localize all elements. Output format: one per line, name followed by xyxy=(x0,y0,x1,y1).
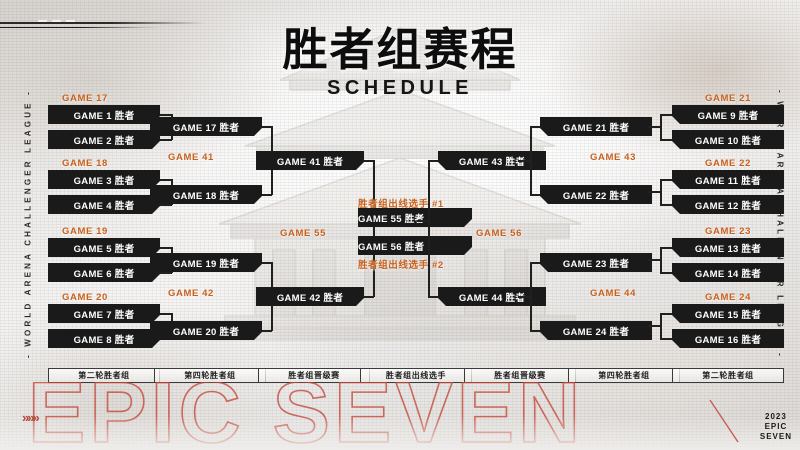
match-label-game41: GAME 41 xyxy=(168,152,214,163)
match-label-game24: GAME 24 xyxy=(705,292,751,303)
slot-game43-bottom[interactable]: GAME 22 胜者 xyxy=(540,185,652,204)
slot-game20-bottom[interactable]: GAME 8 胜者 xyxy=(48,329,160,348)
slot-game42-bottom[interactable]: GAME 20 胜者 xyxy=(150,321,262,340)
match-label-game23: GAME 23 xyxy=(705,226,751,237)
slot-game44-top[interactable]: GAME 23 胜者 xyxy=(540,253,652,272)
slot-game41-top[interactable]: GAME 17 胜者 xyxy=(150,117,262,136)
slot-game20-top[interactable]: GAME 7 胜者 xyxy=(48,304,160,323)
round-chip-1: 第四轮胜者组 xyxy=(154,368,266,383)
slot-game19-bottom[interactable]: GAME 6 胜者 xyxy=(48,263,160,282)
match-label-game17: GAME 17 xyxy=(62,93,108,104)
slot-game17-bottom[interactable]: GAME 2 胜者 xyxy=(48,130,160,149)
slot-game41-bottom[interactable]: GAME 18 胜者 xyxy=(150,185,262,204)
slot-game42-top[interactable]: GAME 19 胜者 xyxy=(150,253,262,272)
qualifier-1-label: 胜者组出线选手 #1 xyxy=(358,196,444,210)
match-label-game18: GAME 18 xyxy=(62,158,108,169)
match-label-game19: GAME 19 xyxy=(62,226,108,237)
corner-slash-decoration xyxy=(708,398,744,444)
slot-game18-top[interactable]: GAME 3 胜者 xyxy=(48,170,160,189)
round-chip-6: 第二轮胜者组 xyxy=(672,368,784,383)
slot-game22-top[interactable]: GAME 11 胜者 xyxy=(672,170,784,189)
match-label-game22: GAME 22 xyxy=(705,158,751,169)
match-label-game20: GAME 20 xyxy=(62,292,108,303)
slot-game19-top[interactable]: GAME 5 胜者 xyxy=(48,238,160,257)
slot-game23-bottom[interactable]: GAME 14 胜者 xyxy=(672,263,784,282)
watermark-fade xyxy=(0,416,800,450)
slot-game21-top[interactable]: GAME 9 胜者 xyxy=(672,105,784,124)
match-label-game21: GAME 21 xyxy=(705,93,751,104)
slot-game24-top[interactable]: GAME 15 胜者 xyxy=(672,304,784,323)
match-label-game56: GAME 56 xyxy=(476,228,522,239)
slot-game21-bottom[interactable]: GAME 10 胜者 xyxy=(672,130,784,149)
slot-game44-bottom[interactable]: GAME 24 胜者 xyxy=(540,321,652,340)
match-label-game42: GAME 42 xyxy=(168,288,214,299)
match-label-game43: GAME 43 xyxy=(590,152,636,163)
slot-game43-top[interactable]: GAME 21 胜者 xyxy=(540,117,652,136)
slot-game55-bottom[interactable]: GAME 42 胜者 xyxy=(256,287,364,306)
event-brand-mark: 2023 EPIC SEVEN xyxy=(760,412,792,442)
schedule-poster: 胜者组赛程 SCHEDULE - WORLD ARENA CHALLENGER … xyxy=(0,0,800,450)
round-chip-5: 第四轮胜者组 xyxy=(568,368,680,383)
slot-game55-top[interactable]: GAME 41 胜者 xyxy=(256,151,364,170)
slot-game23-top[interactable]: GAME 13 胜者 xyxy=(672,238,784,257)
brand-line-1: EPIC xyxy=(760,422,792,432)
qualifier-2-box[interactable]: GAME 56 胜者 xyxy=(358,236,472,255)
round-chip-0: 第二轮胜者组 xyxy=(48,368,160,383)
brand-line-2: SEVEN xyxy=(760,432,792,442)
qualifier-1-box[interactable]: GAME 55 胜者 xyxy=(358,208,472,227)
chevron-icon: »»» xyxy=(22,410,38,425)
slot-game22-bottom[interactable]: GAME 12 胜者 xyxy=(672,195,784,214)
qualifier-2-label: 胜者组出线选手 #2 xyxy=(358,257,444,271)
brand-year: 2023 xyxy=(760,412,792,422)
match-label-game44: GAME 44 xyxy=(590,288,636,299)
slot-game24-bottom[interactable]: GAME 16 胜者 xyxy=(672,329,784,348)
round-chip-4: 胜者组晋级赛 xyxy=(464,368,576,383)
slot-game17-top[interactable]: GAME 1 胜者 xyxy=(48,105,160,124)
round-chip-2: 胜者组晋级赛 xyxy=(258,368,370,383)
round-chip-3: 胜者组出线选手 xyxy=(360,368,472,383)
slot-game18-bottom[interactable]: GAME 4 胜者 xyxy=(48,195,160,214)
watermark-band: EPIC SEVEN xyxy=(0,382,800,450)
match-label-game55: GAME 55 xyxy=(280,228,326,239)
